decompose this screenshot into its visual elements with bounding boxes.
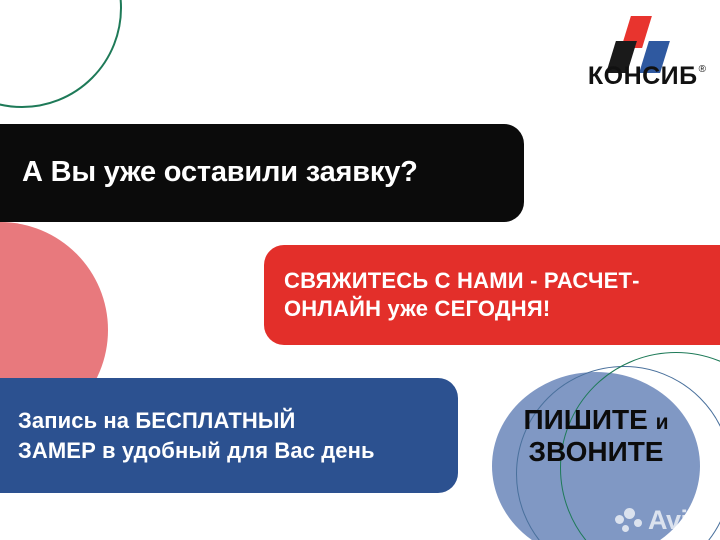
contact-line-2-part-1: ОНЛАЙН: [284, 296, 388, 321]
measurement-banner: Запись на БЕСПЛАТНЫЙ ЗАМЕР в удобный для…: [0, 378, 458, 493]
contact-line-2-part-3: СЕГОДНЯ!: [435, 296, 551, 321]
avito-dots-icon: [615, 508, 645, 534]
headline-text: А Вы уже оставили заявку?: [22, 157, 418, 189]
brand-logo: КОНСИБ ®: [556, 16, 706, 102]
contact-line-1: СВЯЖИТЕСЬ С НАМИ - РАСЧЕТ-: [284, 267, 640, 295]
measurement-line-1: Запись на БЕСПЛАТНЫЙ: [18, 406, 295, 435]
logo-mark-icon: [556, 16, 706, 62]
logo-wordmark: КОНСИБ ®: [556, 64, 706, 89]
measurement-line-2: ЗАМЕР в удобный для Вас день: [18, 436, 375, 465]
green-ring-decoration-top-left: [0, 0, 122, 108]
avito-watermark-label: Avito: [648, 507, 712, 534]
headline-banner: А Вы уже оставили заявку?: [0, 124, 524, 222]
avito-watermark: Avito: [615, 507, 712, 534]
promo-banner-canvas: КОНСИБ ® А Вы уже оставили заявку? СВЯЖИ…: [0, 0, 720, 540]
contact-banner: СВЯЖИТЕСЬ С НАМИ - РАСЧЕТ- ОНЛАЙН уже СЕ…: [264, 245, 720, 345]
contact-line-2: ОНЛАЙН уже СЕГОДНЯ!: [284, 295, 550, 323]
brand-name: КОНСИБ: [588, 64, 698, 89]
registered-trademark-symbol: ®: [699, 65, 706, 75]
contact-line-2-part-2: уже: [388, 296, 435, 321]
